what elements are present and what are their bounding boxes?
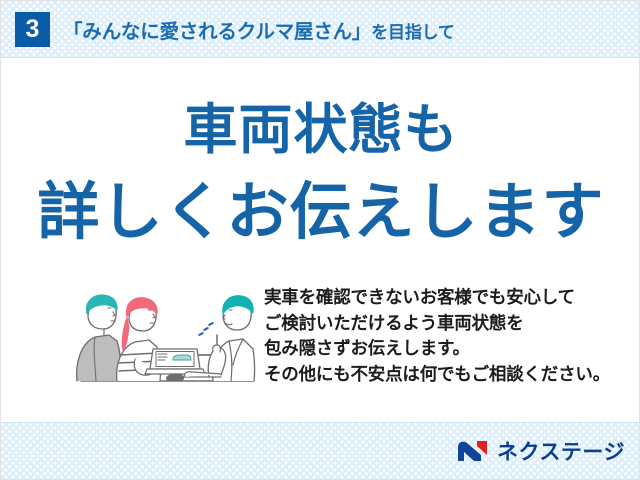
body-line-3: 包み隠さずお伝えします。 xyxy=(264,336,636,362)
footer-band: ネクステージ xyxy=(1,422,640,479)
nextage-n-icon xyxy=(456,439,490,463)
header-title-quoted: 「みんなに愛されるクルマ屋さん」 xyxy=(63,21,371,43)
header-title: 「みんなに愛されるクルマ屋さん」を目指して xyxy=(63,15,455,44)
brand-logo: ネクステージ xyxy=(456,436,625,466)
promo-banner: 3 「みんなに愛されるクルマ屋さん」を目指して 車両状態も 詳しくお伝えします xyxy=(0,0,640,480)
body-line-2: ご検討いただけるよう車両状態を xyxy=(264,311,636,337)
consultation-illustration xyxy=(57,277,257,389)
brand-name: ネクステージ xyxy=(497,436,625,466)
body-line-1: 実車を確認できないお客様でも安心して xyxy=(264,285,636,311)
body-text: 実車を確認できないお客様でも安心して ご検討いただけるよう車両状態を 包み隠さず… xyxy=(264,285,636,387)
speech-marks xyxy=(198,322,214,337)
headline-line-1: 車両状態も xyxy=(1,100,640,160)
content-row: 実車を確認できないお客様でも安心して ご検討いただけるよう車両状態を 包み隠さず… xyxy=(1,277,640,397)
body-line-4: その他にも不安点は何でもご相談ください。 xyxy=(264,362,636,388)
header-band: 3 「みんなに愛されるクルマ屋さん」を目指して xyxy=(1,1,640,58)
headline-line-2: 詳しくお伝えします xyxy=(1,179,640,247)
step-number-badge: 3 xyxy=(15,12,50,47)
header-title-tail: を目指して xyxy=(371,23,455,42)
